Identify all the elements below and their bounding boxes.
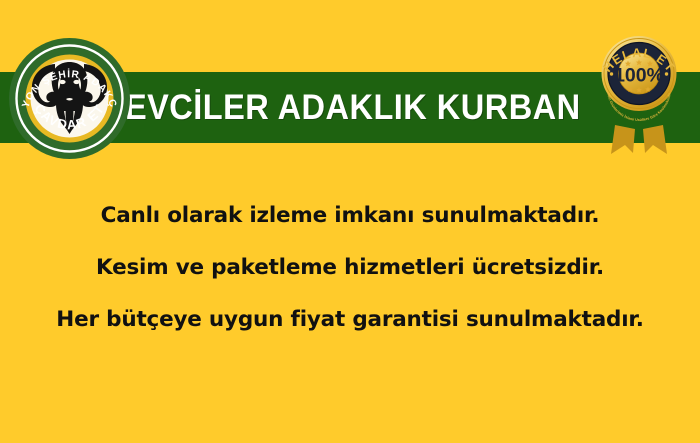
seal-ribbon-left [611,125,635,154]
promotional-banner: EVCİLER ADAKLIK KURBAN [0,0,700,443]
brand-logo: AFYON ŞEHİR ADAKÇISI ÇAVDAR ET [8,37,131,160]
copy-line-3: Her bütçeye uygun fiyat garantisi sunulm… [0,294,700,346]
seal-ribbon-right [643,125,667,154]
copy-line-1: Canlı olarak izleme imkanı sunulmaktadır… [0,190,700,242]
body-copy: Canlı olarak izleme imkanı sunulmaktadır… [0,190,700,346]
helal-certification-seal: HELAL ET 100% Tüm Ürünlerimiz İslami Usü… [585,33,693,158]
copy-line-2: Kesim ve paketleme hizmetleri ücretsizdi… [0,242,700,294]
seal-percentage-text: 100% [614,65,664,87]
